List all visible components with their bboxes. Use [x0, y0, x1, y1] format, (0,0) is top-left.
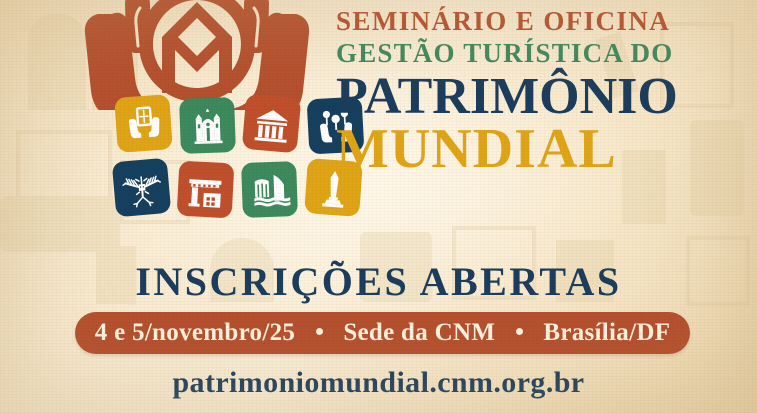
unesco-world-heritage-emblem-in-hands-icon: [72, 0, 322, 110]
heritage-icon-tiles: [58, 96, 348, 224]
headline-line-1: SEMINÁRIO E OFICINA: [336, 8, 736, 35]
website-url[interactable]: patrimoniomundial.cnm.org.br: [0, 366, 757, 400]
nazca-condor-geoglyph-icon: [112, 158, 172, 218]
waterfall-icon: [241, 161, 298, 218]
event-logo: [52, 0, 342, 232]
neoclassical-museum-icon: [242, 94, 302, 154]
event-details-banner: 4 e 5/novembro/25 Sede da CNM Brasília/D…: [75, 312, 690, 354]
church-cathedral-icon: [179, 97, 236, 154]
ruins-aqueduct-icon: [177, 161, 235, 219]
event-poster: SEMINÁRIO E OFICINA GESTÃO TURÍSTICA DO …: [0, 0, 757, 413]
event-details-text: 4 e 5/novembro/25 Sede da CNM Brasília/D…: [95, 319, 671, 347]
headline-block: SEMINÁRIO E OFICINA GESTÃO TURÍSTICA DO …: [336, 8, 736, 177]
hands-holding-window-icon: [114, 94, 173, 153]
registration-open-heading: INSCRIÇÕES ABERTAS: [0, 258, 757, 305]
headline-line-2: GESTÃO TURÍSTICA DO: [336, 40, 736, 67]
separator-dot-icon: [316, 328, 323, 335]
event-location: Brasília/DF: [543, 319, 670, 346]
separator-dot-icon: [516, 328, 523, 335]
headline-line-3: PATRIMÔNIO: [336, 71, 736, 123]
event-venue: Sede da CNM: [343, 319, 495, 346]
event-date: 4 e 5/novembro/25: [95, 319, 295, 346]
headline-line-4: MUNDIAL: [336, 121, 736, 177]
